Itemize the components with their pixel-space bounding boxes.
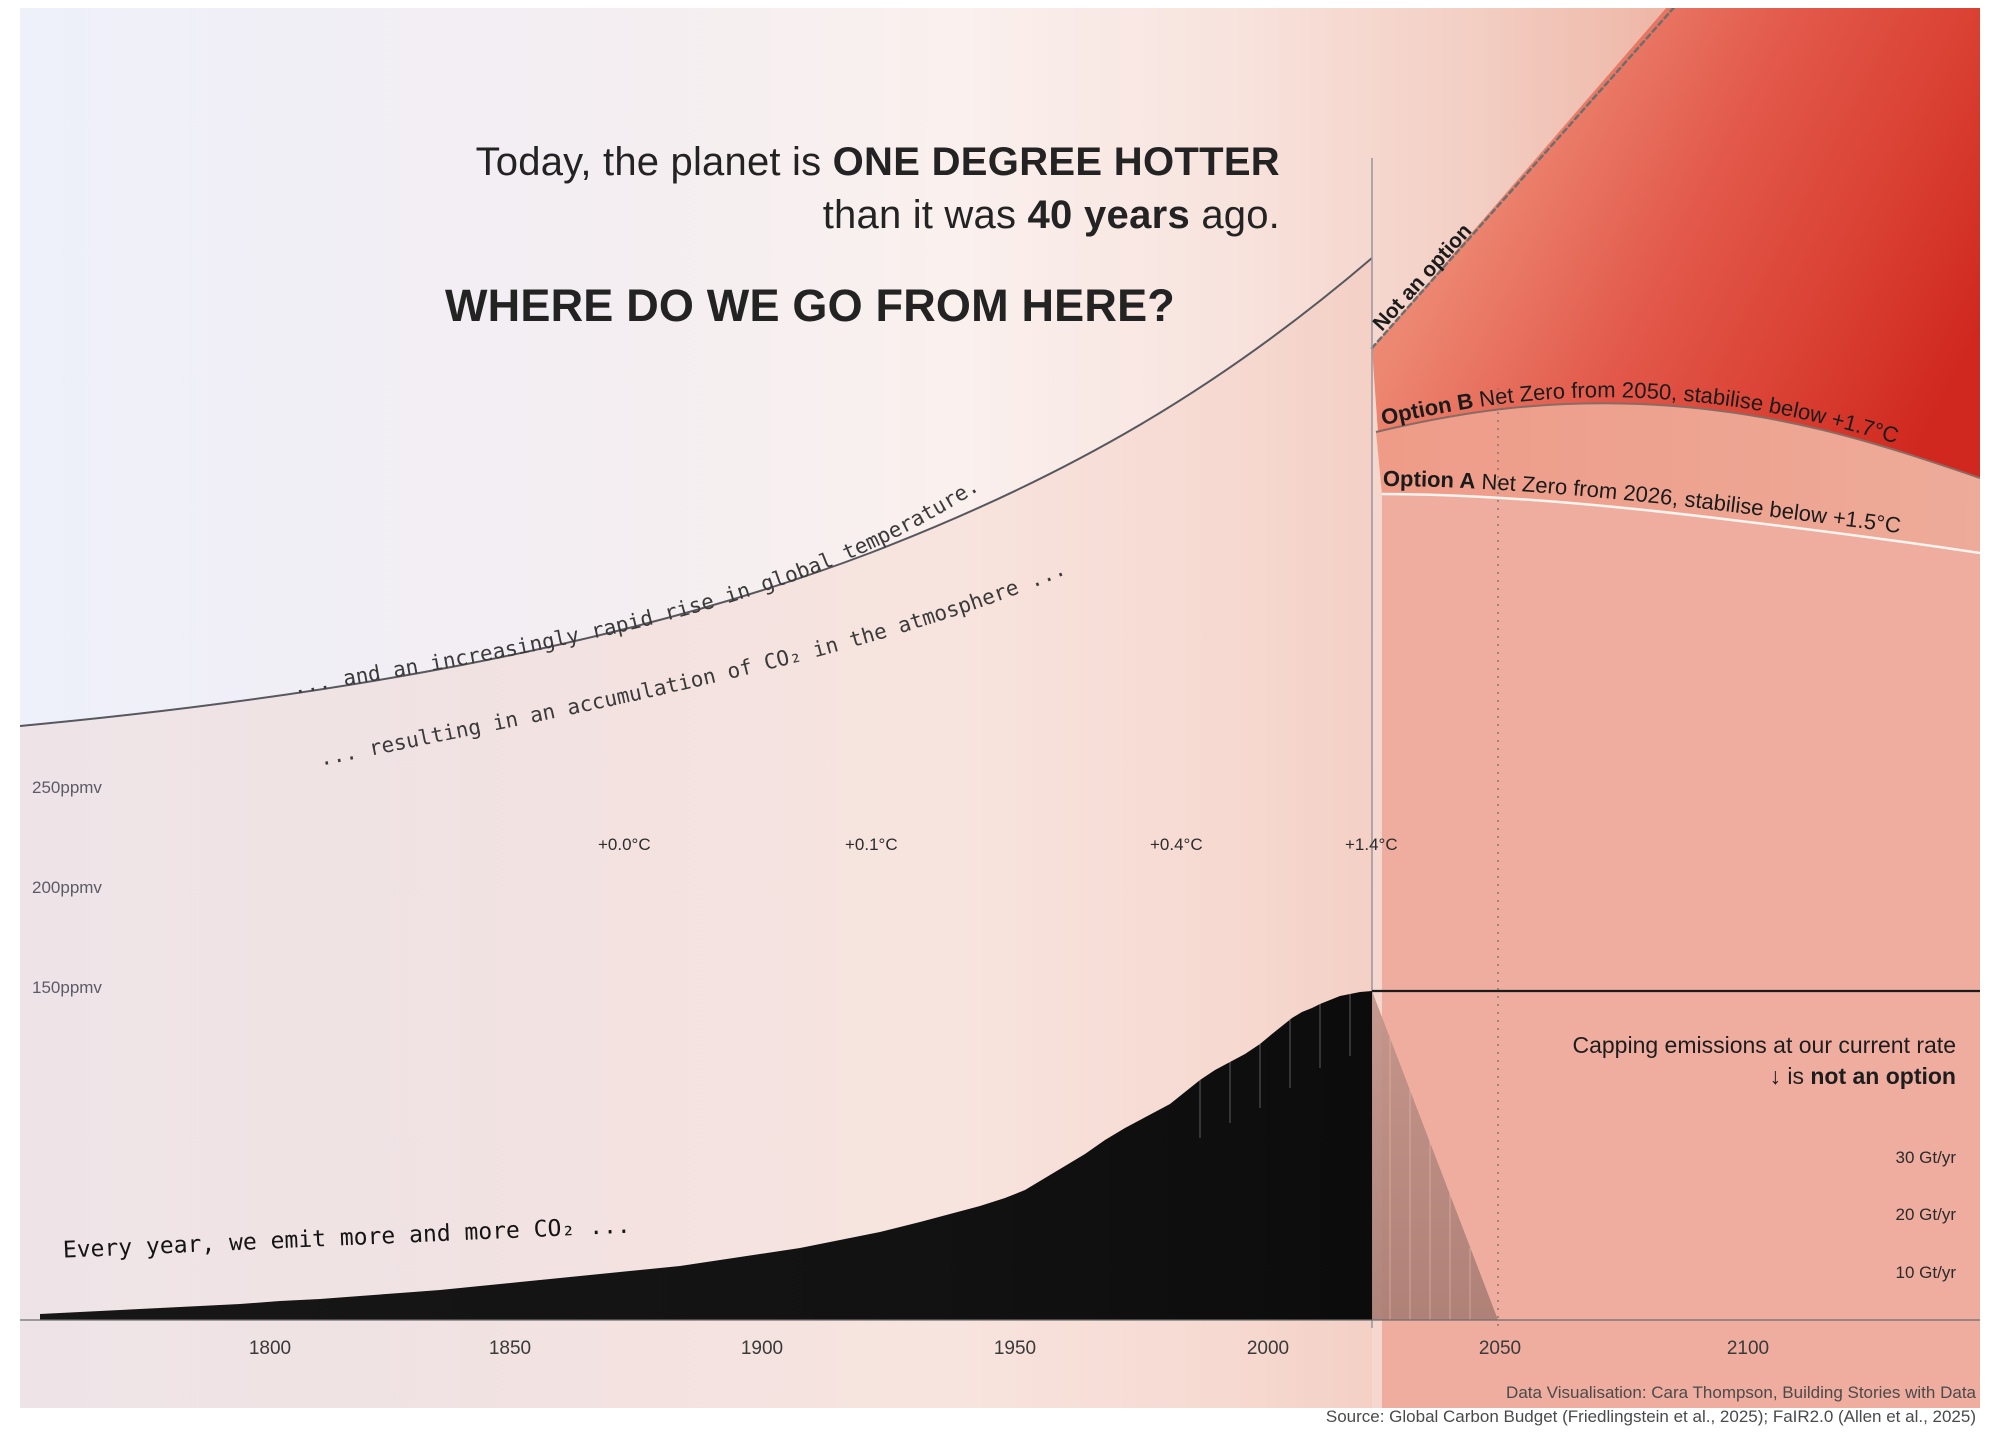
headline-line2-emphasis: 40 years	[1027, 193, 1190, 237]
axis-tick-ppmv-150: 150ppmv	[32, 978, 102, 998]
axis-tick-year-2100: 2100	[1708, 1338, 1788, 1360]
temp-annotation-2025: +1.4°C	[1345, 835, 1398, 855]
axis-tick-year-2000: 2000	[1228, 1338, 1308, 1360]
chart-canvas: ... and an increasingly rapid rise in gl…	[20, 8, 1980, 1408]
temp-annotation-1950: +0.4°C	[1150, 835, 1203, 855]
headline-subtitle: Today, the planet is ONE DEGREE HOTTER t…	[340, 136, 1280, 242]
axis-tick-ppmv-200: 200ppmv	[32, 878, 102, 898]
axis-tick-year-1950: 1950	[975, 1338, 1055, 1360]
infographic-root: ... and an increasingly rapid rise in gl…	[0, 0, 2000, 1440]
axis-tick-gt-30: 30 Gt/yr	[1896, 1148, 1956, 1168]
credit-block: Data Visualisation: Cara Thompson, Build…	[1326, 1381, 1976, 1430]
temp-annotation-1850: +0.1°C	[845, 835, 898, 855]
page-title: WHERE DO WE GO FROM HERE?	[340, 280, 1280, 332]
axis-tick-ppmv-250: 250ppmv	[32, 778, 102, 798]
headline-line2-tail: ago.	[1190, 193, 1280, 237]
capping-arrow-text: ↓ is	[1769, 1063, 1810, 1089]
temp-annotation-1800: +0.0°C	[598, 835, 651, 855]
axis-tick-year-1800: 1800	[230, 1338, 310, 1360]
axis-tick-gt-20: 20 Gt/yr	[1896, 1205, 1956, 1225]
axis-tick-year-1900: 1900	[722, 1338, 802, 1360]
axis-tick-year-1850: 1850	[470, 1338, 550, 1360]
headline-line2-plain: than it was	[823, 193, 1028, 237]
headline-line1-plain: Today, the planet is	[476, 140, 833, 184]
capping-emphasis: not an option	[1810, 1063, 1956, 1089]
credit-visualisation: Data Visualisation: Cara Thompson, Build…	[1326, 1381, 1976, 1406]
credit-source: Source: Global Carbon Budget (Friedlings…	[1326, 1405, 1976, 1430]
axis-tick-year-2050: 2050	[1460, 1338, 1540, 1360]
axis-tick-gt-10: 10 Gt/yr	[1896, 1263, 1956, 1283]
capping-callout: Capping emissions at our current rate ↓ …	[1396, 1030, 1956, 1092]
headline-line1-emphasis: ONE DEGREE HOTTER	[833, 140, 1280, 184]
capping-line-1: Capping emissions at our current rate	[1572, 1032, 1956, 1058]
